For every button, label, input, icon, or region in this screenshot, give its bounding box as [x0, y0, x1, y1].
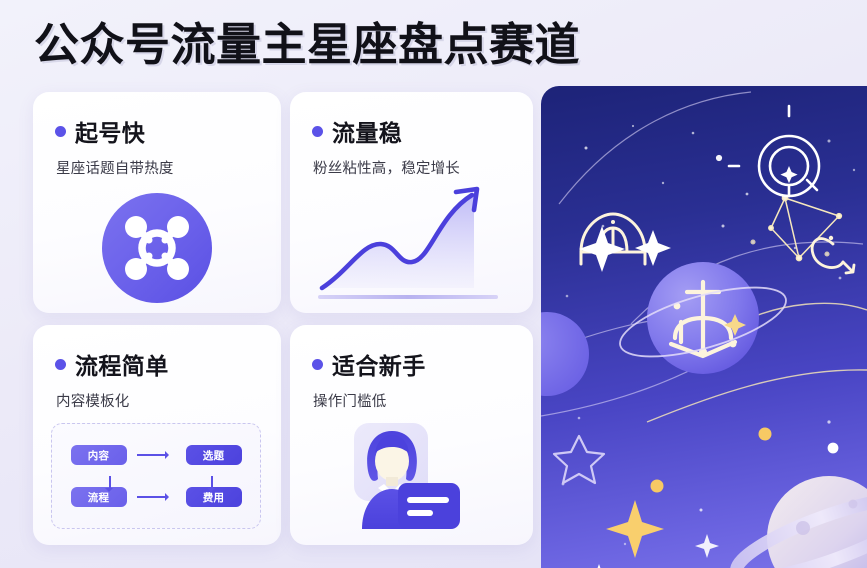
card-artwork: [290, 178, 533, 313]
zodiac-symbol-libra-glyph: [581, 214, 645, 264]
poster-canvas: 公众号流量主星座盘点赛道 起号快 星座话题自带热度: [0, 0, 867, 568]
process-flow-diagram: 内容 选题 流程 费用: [51, 423, 261, 529]
card-subtitle: 操作门槛低: [290, 381, 533, 411]
arrow-down-icon-right: [207, 476, 217, 496]
bullet-dot-icon: [55, 359, 66, 370]
feature-card-fast-start[interactable]: 起号快 星座话题自带热度: [33, 92, 281, 313]
zodiac-space-illustration: [541, 86, 867, 568]
card-header: 流量稳: [290, 92, 533, 148]
left-planet-crescent: [541, 312, 589, 396]
molecule-network-icon: [101, 192, 213, 309]
card-header: 起号快: [33, 92, 281, 148]
card-subtitle: 内容模板化: [33, 381, 281, 411]
card-artwork: [290, 411, 533, 545]
orbit-dot-gold-left: [651, 480, 664, 493]
flow-node-process[interactable]: 流程: [71, 487, 127, 507]
bullet-dot-icon: [312, 359, 323, 370]
card-title: 流量稳: [332, 114, 402, 148]
four-point-star-white-bottom: [580, 564, 618, 568]
arrow-down-icon-left: [105, 476, 115, 496]
card-subtitle: 星座话题自带热度: [33, 148, 281, 178]
feature-card-stable-traffic[interactable]: 流量稳 粉丝粘性高，稳定增长: [290, 92, 533, 313]
card-title: 流程简单: [75, 347, 169, 381]
orbit-dot-white: [828, 443, 839, 454]
feature-card-beginner-friendly[interactable]: 适合新手 操作门槛低: [290, 325, 533, 545]
target-center-star-icon: [780, 166, 797, 183]
card-artwork: [33, 178, 281, 313]
card-header: 适合新手: [290, 325, 533, 381]
person-with-message-illustration: [348, 417, 478, 545]
constellation-sagittarius: [751, 195, 841, 260]
four-point-star-gold: [606, 500, 664, 558]
flow-node-topic[interactable]: 选题: [186, 445, 242, 465]
target-circle-symbol-main: [729, 106, 819, 196]
card-title: 适合新手: [332, 347, 426, 381]
four-point-star-white-small: [695, 534, 719, 558]
card-subtitle: 粉丝粘性高，稳定增长: [290, 148, 533, 178]
page-title: 公众号流量主星座盘点赛道: [34, 21, 580, 68]
saturn-planet: [729, 476, 867, 568]
bullet-dot-icon: [312, 126, 323, 137]
orbit-dot-gold-right: [759, 428, 772, 441]
card-artwork: 内容 选题 流程 费用: [33, 411, 281, 545]
flow-node-content[interactable]: 内容: [71, 445, 127, 465]
arrow-right-icon-top: [137, 449, 175, 461]
central-planet-with-scales: [613, 262, 793, 374]
outline-star-icon: [554, 436, 604, 483]
card-title: 起号快: [75, 114, 145, 148]
feature-card-simple-process[interactable]: 流程简单 内容模板化 内容 选题 流程 费用: [33, 325, 281, 545]
bullet-dot-icon: [55, 126, 66, 137]
zodiac-symbol-scorpio-glyph: [812, 236, 854, 273]
page-title-container: 公众号流量主星座盘点赛道: [34, 14, 734, 76]
arrow-right-icon-bottom: [137, 491, 175, 503]
growth-line-chart: [304, 182, 518, 313]
card-header: 流程简单: [33, 325, 281, 381]
